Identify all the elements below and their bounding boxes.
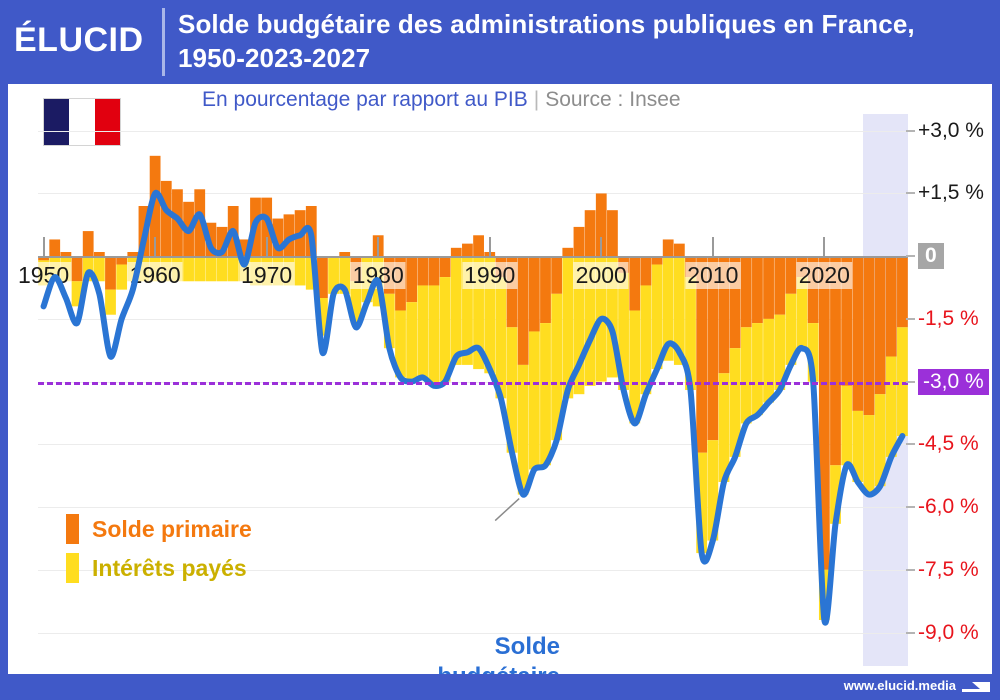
y-axis-tick-label: -7,5 % (918, 558, 979, 582)
y-axis-tick-label: -6,0 % (918, 495, 979, 519)
y-axis-tick-label: -4,5 % (918, 432, 979, 456)
y-axis-tick-label: +3,0 % (918, 119, 984, 143)
chart-subtitle: En pourcentage par rapport au PIB|Source… (202, 88, 681, 112)
subtitle-separator: | (528, 88, 545, 111)
watermark-url: www.elucid.media (844, 678, 956, 693)
page-title: Solde budgétaire des administrations pub… (178, 7, 978, 75)
chart-card: En pourcentage par rapport au PIB|Source… (8, 84, 992, 674)
y-axis-tick-label: -3,0 % (918, 369, 989, 395)
subtitle-main: En pourcentage par rapport au PIB (202, 88, 528, 111)
elucid-logo: ÉLUCID (14, 18, 154, 62)
legend-item-interets-payes: Intérêts payés (66, 553, 252, 583)
annotation-line-1: Solde (350, 632, 560, 662)
subtitle-source: Source : Insee (545, 88, 680, 111)
y-axis-tick-label: -1,5 % (918, 307, 979, 331)
chart-page: ÉLUCID Solde budgétaire des administrati… (0, 0, 1000, 700)
legend-swatch-orange (66, 514, 79, 544)
header-divider (162, 8, 165, 76)
y-axis-tick-label: +1,5 % (918, 181, 984, 205)
y-axis-tick-label: 0 (918, 243, 944, 269)
plot-area: 19501960197019801990200020102020 +3,0 %+… (38, 114, 908, 666)
page-header: ÉLUCID Solde budgétaire des administrati… (0, 0, 1000, 84)
page-footer: www.elucid.media (0, 674, 1000, 700)
legend-label-interets-payes: Intérêts payés (92, 555, 247, 582)
legend-swatch-yellow (66, 553, 79, 583)
elucid-arrow-icon (962, 680, 990, 694)
legend-label-solde-primaire: Solde primaire (92, 516, 252, 543)
y-axis-tick-label: -9,0 % (918, 621, 979, 645)
chart-legend: Solde primaire Intérêts payés (66, 514, 252, 592)
leader-line (495, 499, 519, 521)
legend-item-solde-primaire: Solde primaire (66, 514, 252, 544)
